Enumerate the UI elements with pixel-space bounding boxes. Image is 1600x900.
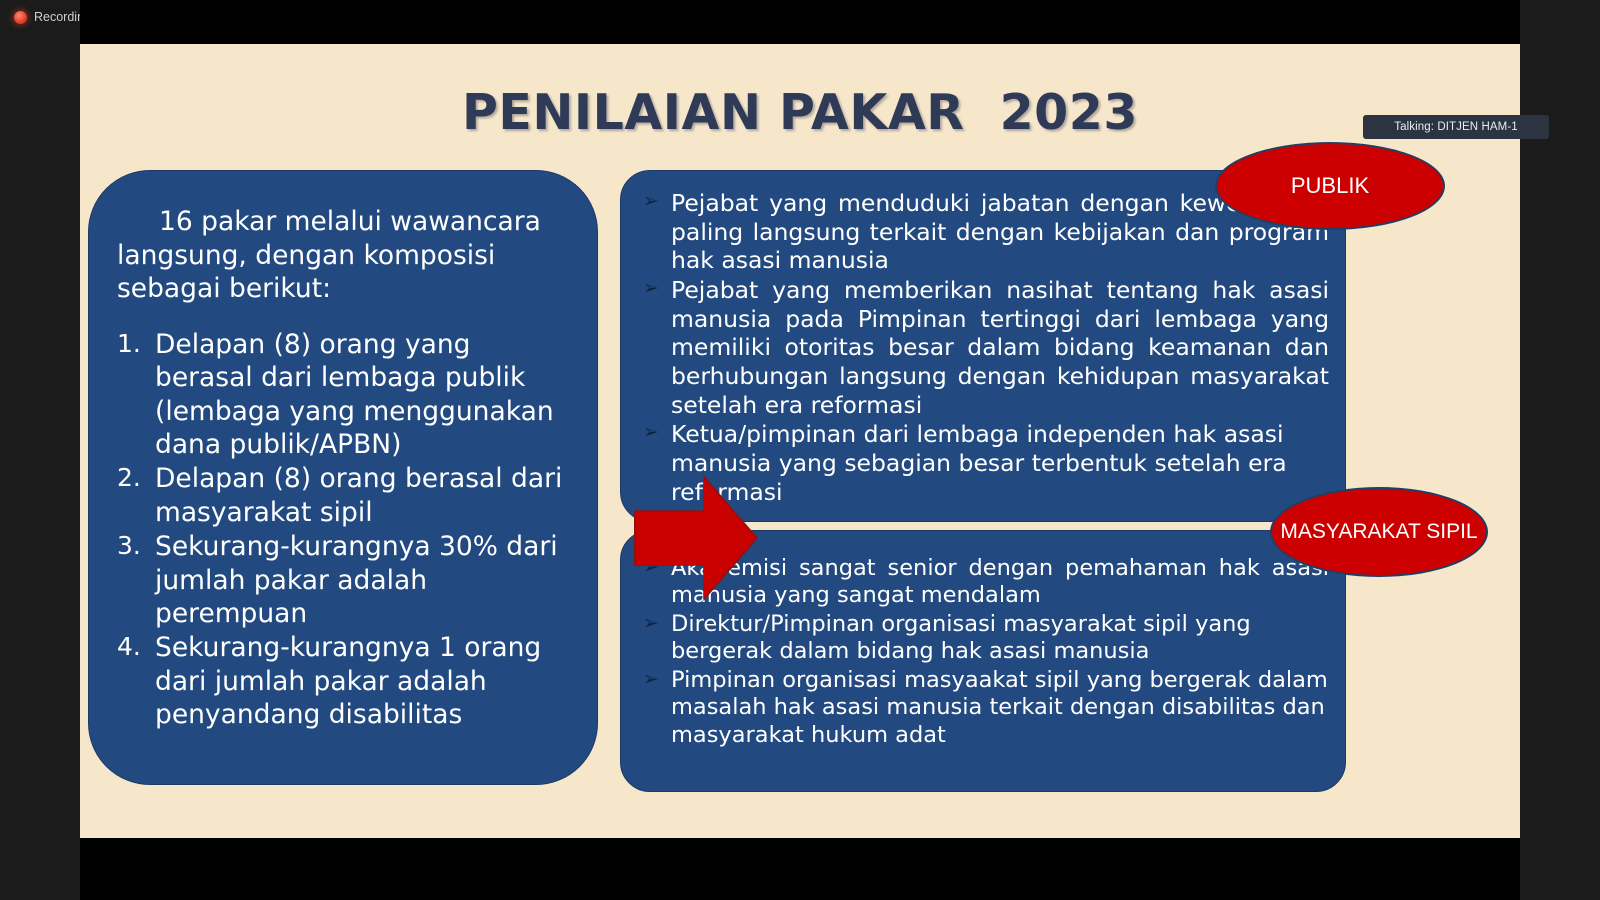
top-right-content-panel: Pejabat yang menduduki jabatan dengan ke… [620, 170, 1346, 522]
left-panel-intro: 16 pakar melalui wawancara langsung, den… [117, 205, 567, 306]
left-panel-numbered-list: Delapan (8) orang yang berasal dari lemb… [117, 328, 567, 732]
callout-publik: PUBLIK [1215, 142, 1445, 230]
left-content-panel: 16 pakar melalui wawancara langsung, den… [88, 170, 598, 785]
callout-masyarakat-sipil-label: MASYARAKAT SIPIL [1280, 520, 1477, 544]
record-dot-icon [14, 11, 27, 24]
list-item: Delapan (8) orang yang berasal dari lemb… [117, 328, 567, 462]
meeting-left-bar: Recording [0, 0, 80, 900]
bottom-right-bullet-list: Akademisi sangat senior dengan pemahaman… [635, 555, 1329, 749]
list-item: Sekurang-kurangnya 30% dari jumlah pakar… [117, 530, 567, 630]
list-item: Delapan (8) orang berasal dari masyaraka… [117, 462, 567, 529]
talking-label: Talking: DITJEN HAM-1 [1394, 121, 1518, 133]
meeting-bottom-bar [80, 838, 1520, 900]
list-item: Pimpinan organisasi masyaakat sipil yang… [635, 667, 1329, 749]
screen: Recording Talking: DITJEN HAM-1 PENILAIA… [0, 0, 1600, 900]
meeting-top-bar [80, 0, 1520, 44]
top-right-bullet-list: Pejabat yang menduduki jabatan dengan ke… [635, 189, 1329, 506]
callout-masyarakat-sipil: MASYARAKAT SIPIL [1270, 487, 1488, 577]
list-item: Ketua/pimpinan dari lembaga independen h… [635, 420, 1329, 506]
callout-publik-label: PUBLIK [1291, 174, 1369, 198]
presentation-slide: PENILAIAN PAKAR 2023 16 pakar melalui wa… [80, 44, 1520, 838]
list-item: Direktur/Pimpinan organisasi masyarakat … [635, 611, 1329, 666]
talking-indicator: Talking: DITJEN HAM-1 [1363, 115, 1549, 139]
list-item: Sekurang-kurangnya 1 orang dari jumlah p… [117, 631, 567, 731]
list-item: Pejabat yang memberikan nasihat tentang … [635, 276, 1329, 419]
slide-title: PENILAIAN PAKAR 2023 [80, 84, 1520, 141]
list-item: Akademisi sangat senior dengan pemahaman… [635, 555, 1329, 610]
